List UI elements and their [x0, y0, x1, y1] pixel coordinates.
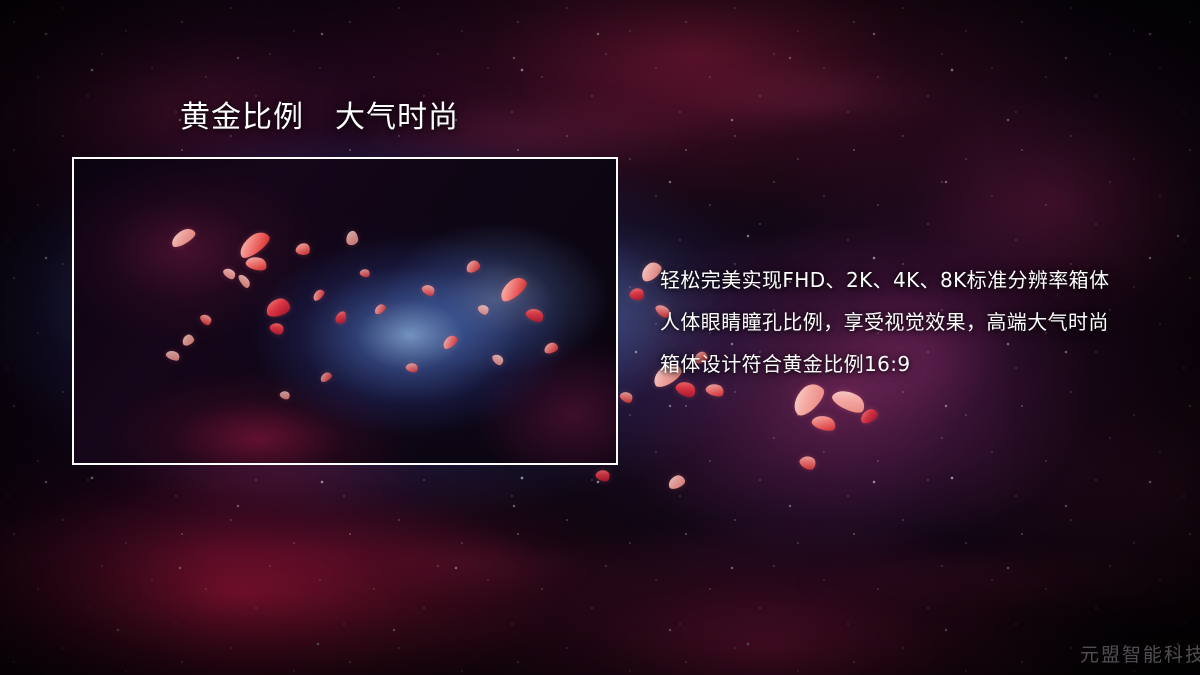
rose-petal: [830, 385, 868, 417]
rose-petal: [618, 389, 634, 405]
rose-petal: [594, 467, 611, 483]
body-line-2: 人体眼睛瞳孔比例，享受视觉效果，高端大气时尚: [660, 301, 1170, 343]
page-title: 黄金比例 大气时尚: [180, 103, 459, 133]
rose-petal: [798, 453, 819, 473]
presentation-slide: 黄金比例 大气时尚 轻松完美实现FHD、2K、4K、8K标准分辨率箱体 人体眼睛…: [0, 0, 1200, 675]
body-copy-block: 轻松完美实现FHD、2K、4K、8K标准分辨率箱体 人体眼睛瞳孔比例，享受视觉效…: [660, 259, 1170, 385]
body-line-3: 箱体设计符合黄金比例16:9: [660, 343, 1170, 385]
rose-petal: [810, 412, 837, 433]
rose-petal: [666, 473, 686, 490]
body-line-1: 轻松完美实现FHD、2K、4K、8K标准分辨率箱体: [660, 259, 1170, 301]
framed-product-image: [72, 157, 618, 465]
watermark: 元盟智能科技: [1080, 640, 1200, 667]
rose-petal: [628, 286, 645, 302]
